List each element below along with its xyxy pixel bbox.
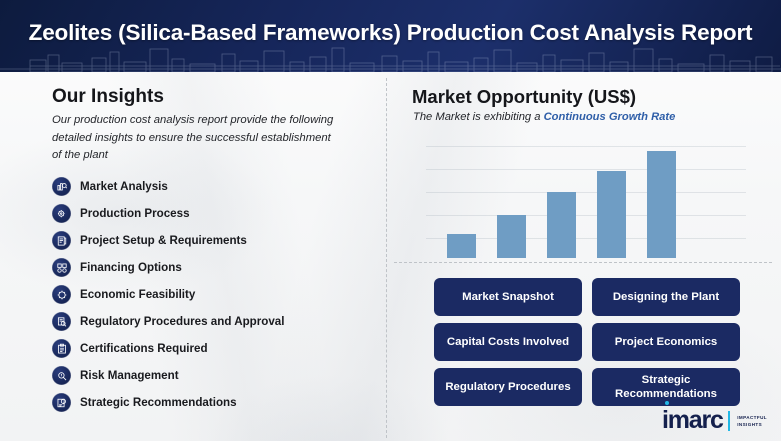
market-subtitle-accent: Continuous Growth Rate: [544, 111, 676, 123]
list-item[interactable]: Risk Management: [52, 362, 382, 389]
financing-options-icon: [52, 258, 71, 277]
logo-divider-bar: [728, 411, 731, 431]
list-item-label: Economic Feasibility: [80, 288, 195, 301]
insights-description: Our production cost analysis report prov…: [52, 112, 335, 165]
regulatory-procedures-icon: [52, 312, 71, 331]
list-item-label: Production Process: [80, 207, 190, 220]
strategic-recommendations-icon: [52, 393, 71, 412]
chart-bar: [597, 171, 626, 258]
button-project-economics[interactable]: Project Economics: [592, 323, 740, 361]
chart-bar: [547, 192, 576, 259]
skyline-decoration: [0, 46, 781, 72]
insights-heading: Our Insights: [52, 86, 164, 108]
chart-bar: [447, 234, 476, 258]
list-item[interactable]: Market Analysis: [52, 173, 382, 200]
market-heading: Market Opportunity (US$): [412, 86, 636, 108]
production-process-icon: [52, 204, 71, 223]
list-item[interactable]: Strategic Recommendations: [52, 389, 382, 416]
list-item-label: Strategic Recommendations: [80, 396, 237, 409]
market-subtitle-prefix: The Market is exhibiting a: [413, 111, 544, 123]
economic-feasibility-icon: [52, 285, 71, 304]
list-item[interactable]: Regulatory Procedures and Approval: [52, 308, 382, 335]
market-opportunity-panel: Market Opportunity (US$) The Market is e…: [386, 72, 781, 441]
growth-bar-chart: [426, 140, 746, 258]
insights-list: Market Analysis Production Process: [52, 173, 382, 416]
button-capital-costs-involved[interactable]: Capital Costs Involved: [434, 323, 582, 361]
list-item-label: Regulatory Procedures and Approval: [80, 315, 284, 328]
logo-wordmark: imarc: [662, 408, 723, 433]
list-item[interactable]: Certifications Required: [52, 335, 382, 362]
list-item[interactable]: Production Process: [52, 200, 382, 227]
logo-tagline: Impactful Insights: [737, 415, 767, 429]
header-banner: Zeolites (Silica-Based Frameworks) Produ…: [0, 0, 781, 72]
list-item[interactable]: Project Setup & Requirements: [52, 227, 382, 254]
insights-panel: Our Insights Our production cost analysi…: [0, 72, 386, 441]
logo-tagline-line2: Insights: [737, 422, 762, 427]
chart-bar: [497, 215, 526, 258]
project-setup-icon: [52, 231, 71, 250]
certifications-icon: [52, 339, 71, 358]
button-regulatory-procedures[interactable]: Regulatory Procedures: [434, 368, 582, 406]
button-market-snapshot[interactable]: Market Snapshot: [434, 278, 582, 316]
chart-bar: [647, 151, 676, 258]
chart-bars: [426, 140, 746, 258]
list-item-label: Certifications Required: [80, 342, 208, 355]
list-item[interactable]: Financing Options: [52, 254, 382, 281]
report-slide: Zeolites (Silica-Based Frameworks) Produ…: [0, 0, 781, 441]
page-title: Zeolites (Silica-Based Frameworks) Produ…: [0, 20, 781, 46]
logo-tagline-line1: Impactful: [737, 415, 767, 420]
list-item[interactable]: Economic Feasibility: [52, 281, 382, 308]
list-item-label: Financing Options: [80, 261, 182, 274]
button-designing-the-plant[interactable]: Designing the Plant: [592, 278, 740, 316]
topics-button-grid: Market Snapshot Designing the Plant Capi…: [434, 278, 740, 406]
imarc-logo: imarc Impactful Insights: [662, 408, 767, 433]
list-item-label: Risk Management: [80, 369, 179, 382]
market-subtitle: The Market is exhibiting a Continuous Gr…: [413, 111, 675, 123]
logo-dot-icon: [665, 401, 669, 405]
list-item-label: Project Setup & Requirements: [80, 234, 247, 247]
market-analysis-icon: [52, 177, 71, 196]
risk-management-icon: [52, 366, 71, 385]
list-item-label: Market Analysis: [80, 180, 168, 193]
